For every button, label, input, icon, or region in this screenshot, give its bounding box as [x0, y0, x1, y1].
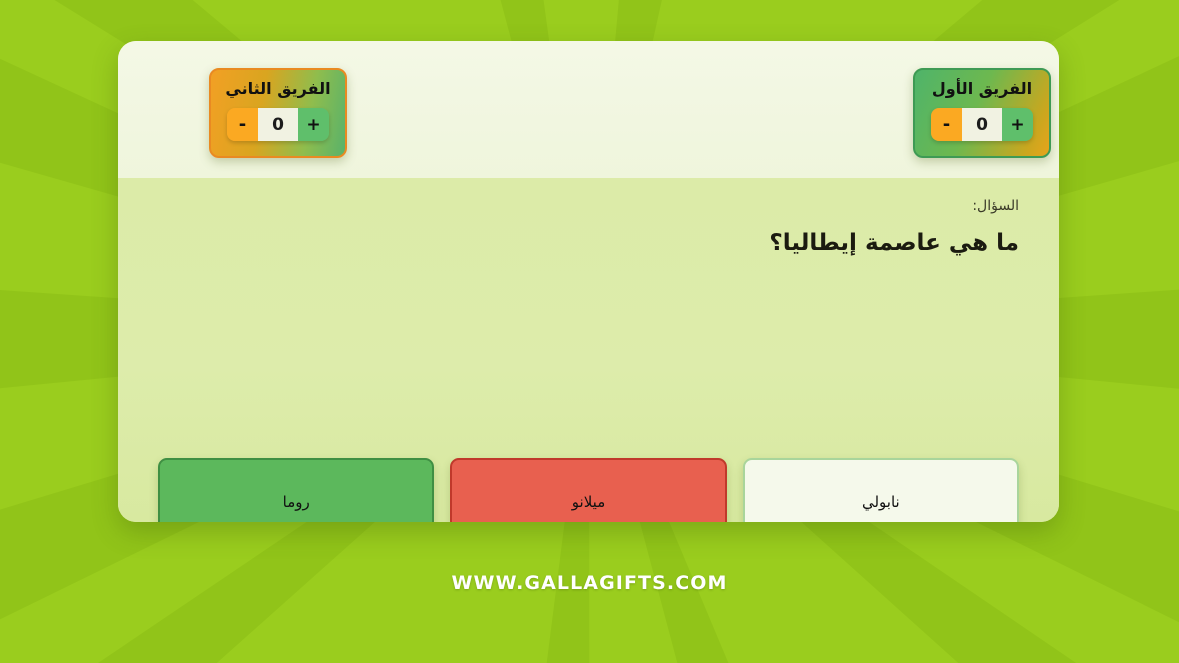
team-two-score-pill: + 0 - — [227, 108, 329, 141]
answer-option-label: روما — [283, 493, 310, 511]
answer-option-milano[interactable]: ميلانو — [450, 458, 726, 522]
site-url-text: WWW.GALLAGIFTS.COM — [451, 572, 727, 594]
site-footer: WWW.GALLAGIFTS.COM — [0, 572, 1179, 594]
answer-option-roma[interactable]: روما — [158, 458, 434, 522]
team-card-team-one[interactable]: الفريق الأول + 0 - — [913, 68, 1051, 158]
team-one-score-value: 0 — [962, 108, 1002, 141]
quiz-body: السؤال: ما هي عاصمة إيطاليا؟ روما ميلانو… — [118, 178, 1059, 522]
team-one-increment-button[interactable]: + — [1002, 108, 1033, 141]
team-card-team-two[interactable]: الفريق الثاني + 0 - — [209, 68, 347, 158]
team-one-name: الفريق الأول — [915, 79, 1049, 99]
team-one-decrement-button[interactable]: - — [931, 108, 962, 141]
scoreboard: الفريق الثاني + 0 - الفريق الأول + 0 - — [118, 41, 1059, 178]
answer-option-label: نابولي — [862, 493, 900, 511]
team-two-name: الفريق الثاني — [211, 79, 345, 99]
answer-option-napoli[interactable]: نابولي — [743, 458, 1019, 522]
answer-option-label: ميلانو — [572, 493, 605, 511]
question-text: ما هي عاصمة إيطاليا؟ — [158, 228, 1019, 258]
question-label: السؤال: — [158, 196, 1019, 216]
team-two-decrement-button[interactable]: - — [227, 108, 258, 141]
quiz-card: الفريق الثاني + 0 - الفريق الأول + 0 - ا… — [118, 41, 1059, 522]
team-one-score-pill: + 0 - — [931, 108, 1033, 141]
answer-options: روما ميلانو نابولي — [158, 458, 1019, 522]
team-two-score-value: 0 — [258, 108, 298, 141]
team-two-increment-button[interactable]: + — [298, 108, 329, 141]
